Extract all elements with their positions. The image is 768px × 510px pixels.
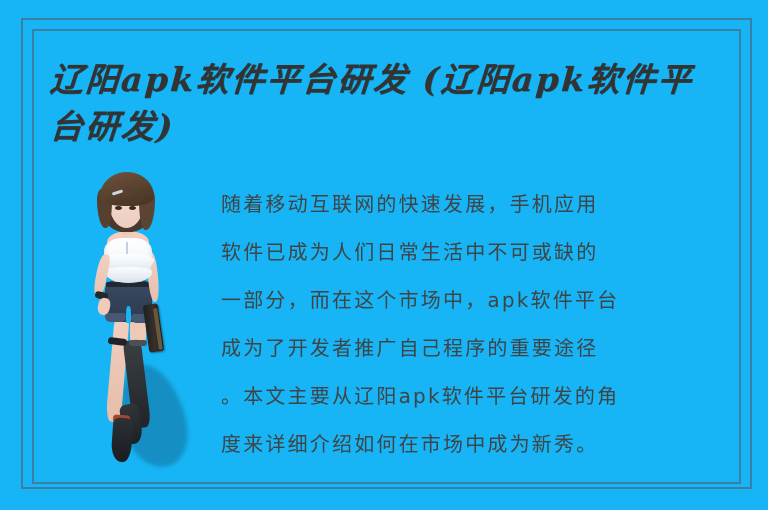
body-line-5: 。本文主要从辽阳apk软件平台研发的角 bbox=[221, 372, 737, 420]
garter-strap bbox=[108, 337, 128, 346]
title-line-1: 辽阳apk软件平台研发 (辽阳apk软件平 bbox=[48, 56, 741, 103]
body-line-4: 成为了开发者推广自己程序的重要途径 bbox=[221, 324, 737, 372]
left-boot bbox=[110, 417, 133, 462]
left-eye bbox=[115, 206, 122, 210]
right-eye bbox=[129, 206, 136, 210]
title-line-2: 台研发) bbox=[48, 103, 741, 150]
body-line-1: 随着移动互联网的快速发展，手机应用 bbox=[221, 180, 737, 228]
page-title: 辽阳apk软件平台研发 (辽阳apk软件平 台研发) bbox=[50, 56, 740, 150]
poster-canvas: 辽阳apk软件平台研发 (辽阳apk软件平 台研发) bbox=[0, 0, 768, 510]
shorts-leg-gap bbox=[126, 306, 131, 323]
shorts-cuff-left bbox=[105, 313, 126, 322]
body-paragraph: 随着移动互联网的快速发展，手机应用 软件已成为人们日常生活中不可或缺的 一部分，… bbox=[221, 180, 737, 468]
hair-bangs bbox=[100, 172, 154, 206]
body-line-2: 软件已成为人们日常生活中不可或缺的 bbox=[221, 228, 737, 276]
character-illustration bbox=[76, 168, 194, 470]
body-line-3: 一部分，而在这个市场中，apk软件平台 bbox=[221, 276, 737, 324]
body-line-6: 度来详细介绍如何在市场中成为新秀。 bbox=[221, 420, 737, 468]
stocking-band bbox=[129, 340, 147, 346]
